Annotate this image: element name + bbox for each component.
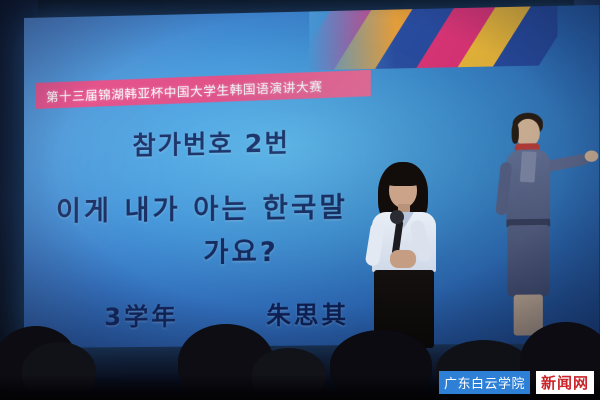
microphone-head: [390, 210, 404, 224]
slide-line-topic-part2: 가요?: [203, 230, 279, 270]
slide-title-text: 第十三届锦湖韩亚杯中国大学生韩国语演讲大赛: [46, 75, 323, 105]
screenshot-root: 第十三届锦湖韩亚杯中国大学生韩国语演讲大赛 참가번호 2번 이게 내가 아는 한…: [0, 0, 600, 400]
speaker-hands: [390, 250, 416, 268]
watermark-university: 广东白云学院: [439, 371, 530, 394]
attendant-lapel: [520, 151, 537, 182]
watermark: 广东白云学院 新闻网: [439, 371, 594, 394]
ribbon-fade-overlay: [309, 5, 557, 70]
decorative-ribbon: [309, 5, 557, 70]
slide-line-participant-number: 참가번호 2번: [132, 123, 289, 162]
watermark-news-site: 新闻网: [536, 371, 594, 394]
attendant-right-arm: [543, 153, 590, 173]
slide-title-banner: 第十三届锦湖韩亚杯中国大学生韩国语演讲大赛: [36, 70, 371, 109]
slide-line-topic-part1: 이게 내가 아는 한국말: [56, 185, 348, 229]
attendant-hair-side: [512, 123, 519, 144]
speaker-hair-front: [384, 168, 422, 186]
attendant-right-hand: [585, 150, 599, 161]
